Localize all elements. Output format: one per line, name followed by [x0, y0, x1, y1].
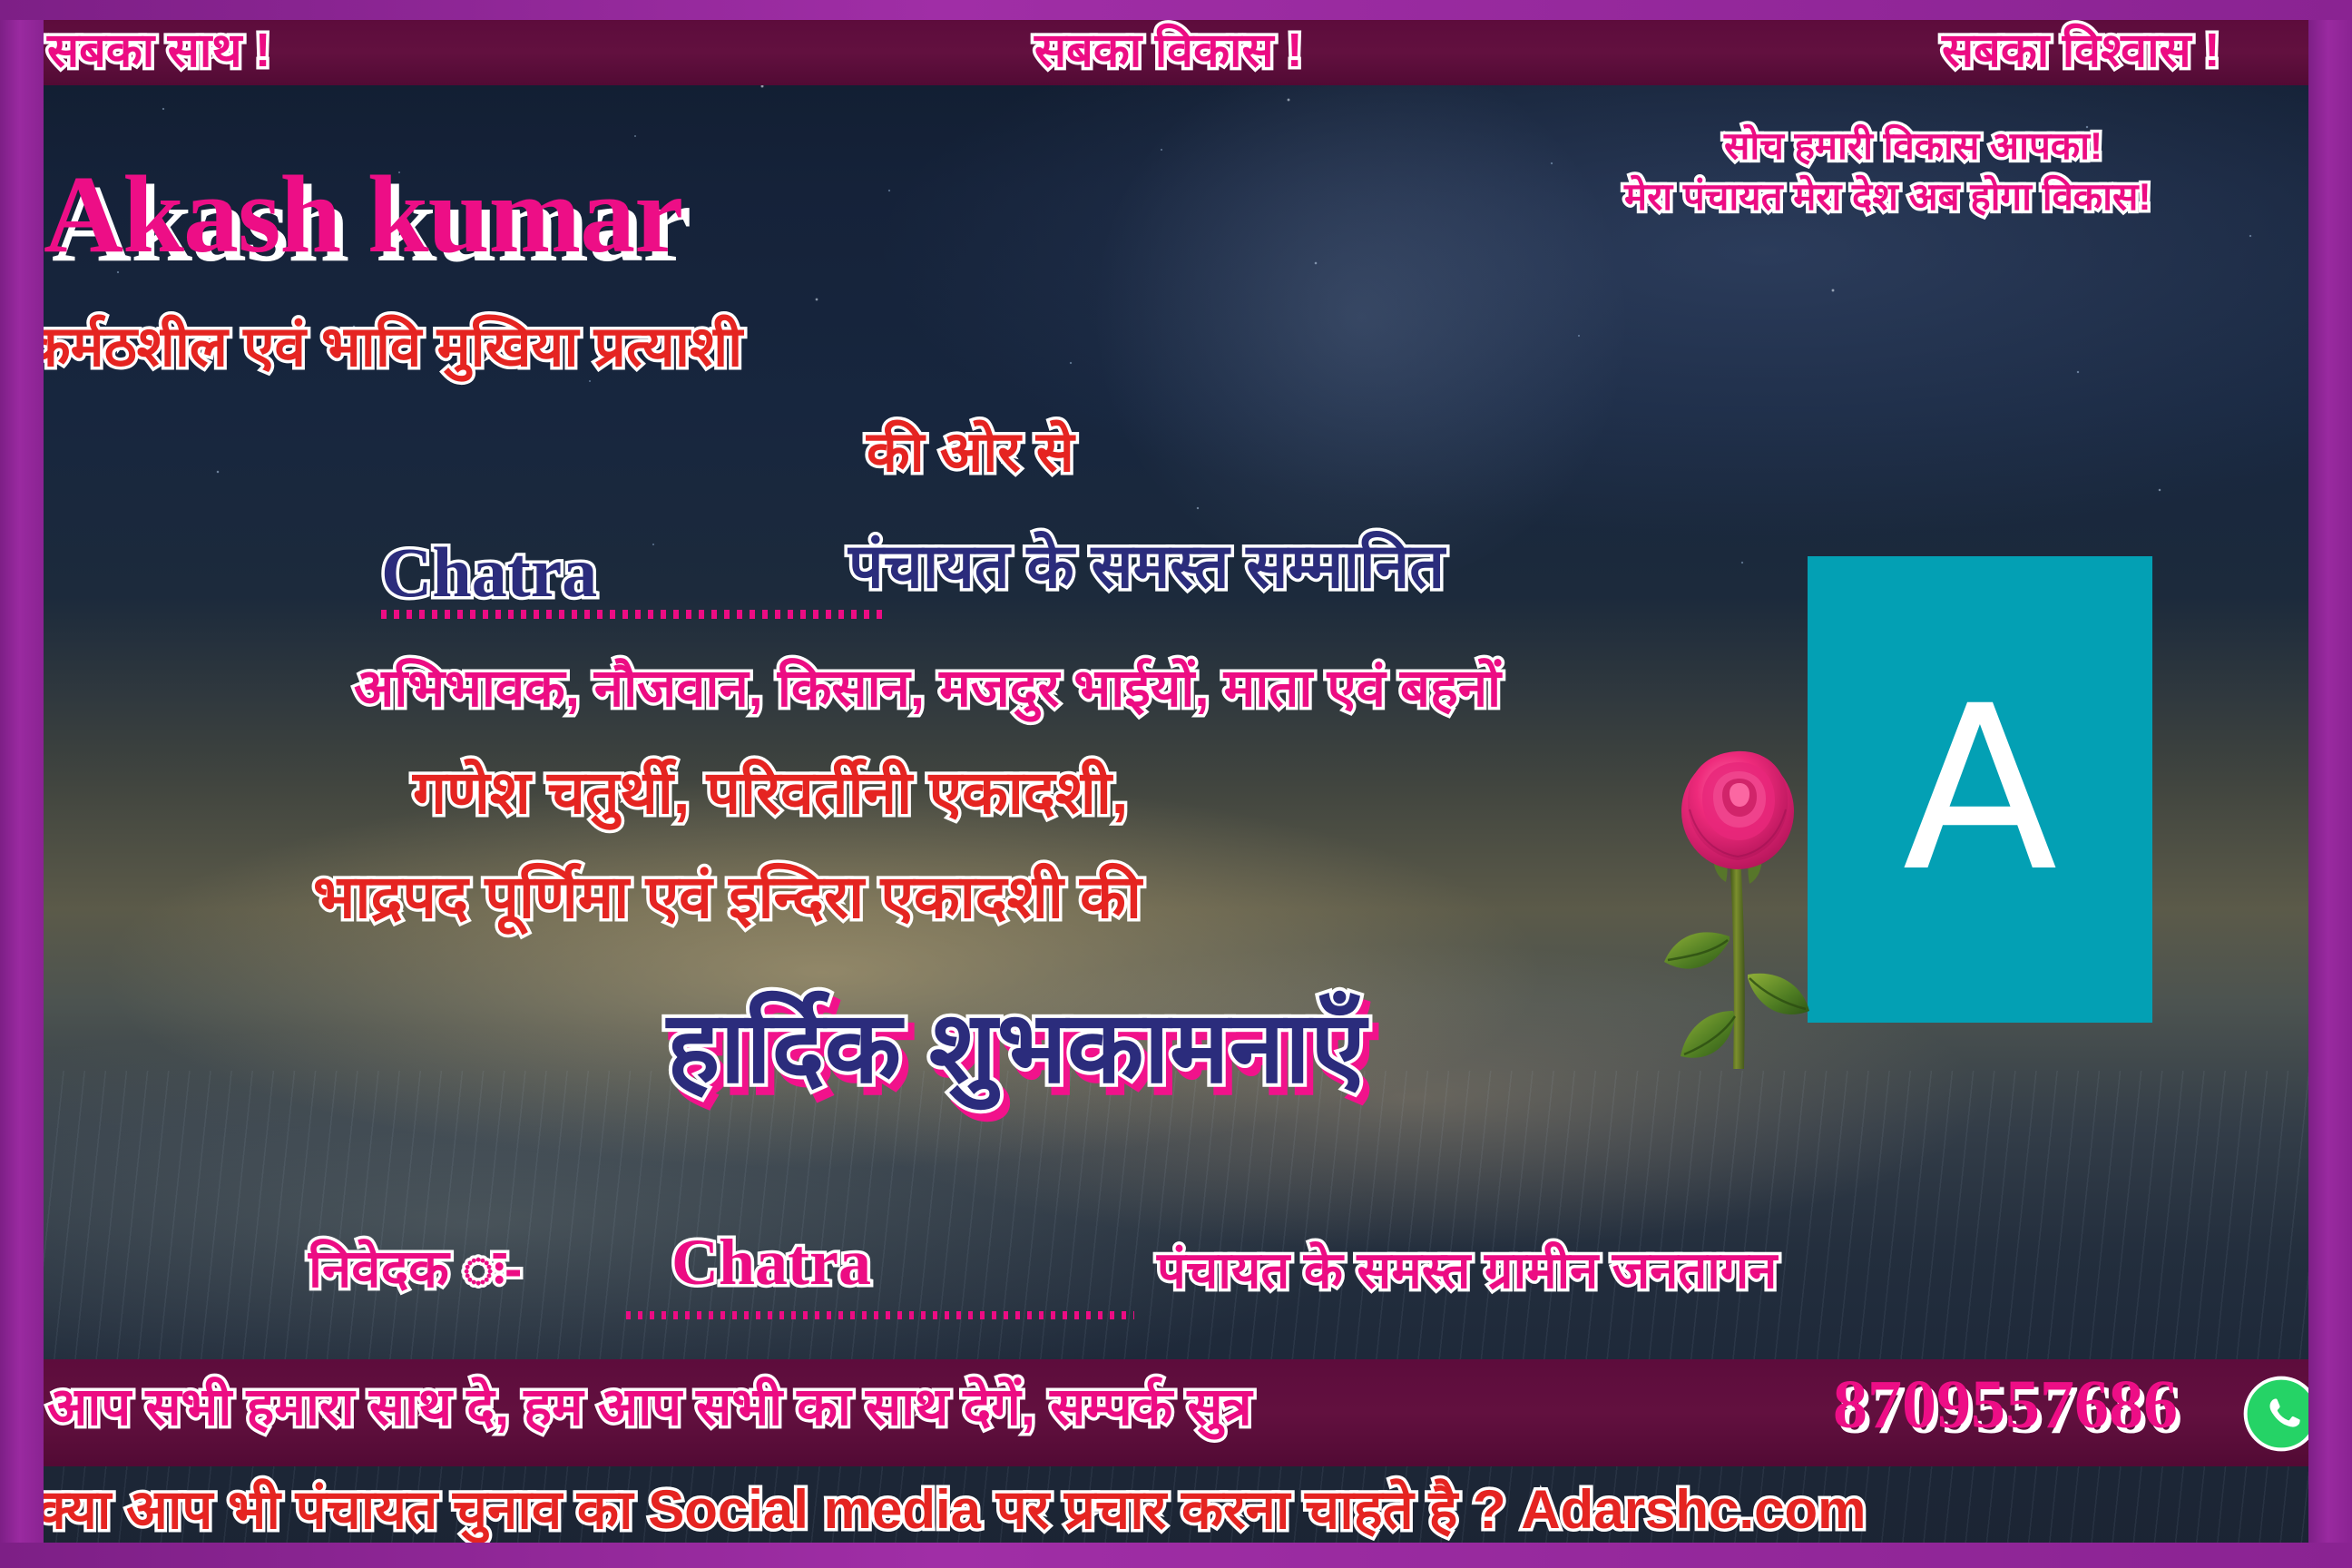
signoff-from: पंचायत के समस्त ग्रामीन जनतागन — [1157, 1245, 1777, 1296]
signoff-label: निवेदक ः- — [309, 1243, 522, 1296]
frame-border-bottom — [0, 1543, 2352, 1568]
candidate-name: Akash kumar — [44, 160, 682, 270]
candidate-photo-placeholder[interactable]: A — [1808, 556, 2152, 1023]
candidate-designation-line-1: कर्मठशील एवं भावि मुखिया प्रत्याशी — [27, 319, 742, 376]
rose-flower-decoration — [1650, 746, 1840, 1073]
slogan-sabka-vishwas: सबका विश्वास ! — [1942, 27, 2220, 74]
frame-border-left — [0, 0, 44, 1568]
addressee-line-2: अभिभावक, नौजवान, किसान, मजदुर भाईयों, मा… — [354, 662, 1501, 715]
slogan-sabka-saath: सबका साथ ! — [47, 27, 270, 74]
signoff-name-underline — [626, 1311, 1134, 1319]
election-greeting-poster: सबका साथ ! सबका विकास ! सबका विश्वास ! A… — [0, 0, 2352, 1568]
tagline-line-2: मेरा पंचायत मेरा देश अब होगा विकास! — [1624, 178, 2151, 216]
addressee-line-1: पंचायत के समस्त सम्मानित — [848, 535, 1445, 597]
tagline-line-1: सोच हमारी विकास आपका! — [1724, 127, 2102, 165]
contact-phone-number[interactable]: 8709557686 — [1833, 1370, 2178, 1439]
slogan-sabka-vikas: सबका विकास ! — [1034, 27, 1302, 74]
frame-border-top — [0, 0, 2352, 20]
frame-border-right — [2308, 0, 2352, 1568]
candidate-designation-line-2: की ओर से — [867, 425, 1074, 481]
avatar-letter: A — [1902, 676, 2057, 903]
greeting-text: हार्दिक शुभकामनाएँ — [667, 998, 1366, 1098]
festival-line-2: भाद्रपद पूर्णिमा एवं इन्दिरा एकादशी की — [313, 867, 1142, 926]
signoff-panchayat-name: Chatra — [671, 1230, 871, 1295]
festival-line-1: गणेश चतुर्थी, परिवर्तीनी एकादशी, — [413, 762, 1128, 822]
footer-appeal-text: आप सभी हमारा साथ दे, हम आप सभी का साथ दे… — [47, 1381, 1252, 1434]
panchayat-name-field: Chatra — [381, 537, 597, 608]
promo-text: क्या आप भी पंचायत चुनाव का Social media … — [36, 1483, 1866, 1537]
